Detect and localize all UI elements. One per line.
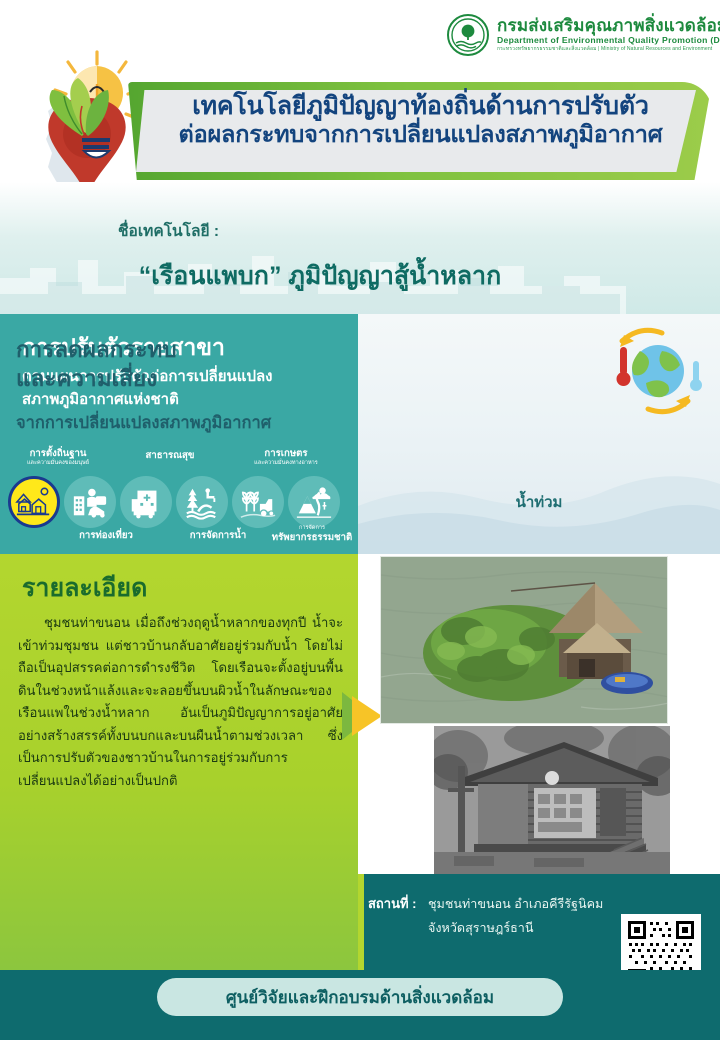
footer-pill: ศูนย์วิจัยและฝึกอบรมด้านสิ่งแวดล้อม — [157, 978, 563, 1016]
mitigation-heading-line1: การลดผลกระทบ — [16, 337, 177, 362]
technology-label: ชื่อเทคโนโลยี : — [118, 218, 219, 243]
deqp-org-th: กรมส่งเสริมคุณภาพสิ่งแวดล้อม — [497, 17, 720, 35]
sector-bottom-labels: การท่องเที่ยว การจัดการน้ำ การจัดการ ทรั… — [0, 530, 358, 556]
location-line1: ชุมชนท่าขนอน อำเภอคีรีรัฐนิคม — [428, 894, 603, 914]
sector-label-natural-resources: การจัดการ ทรัพยากรธรรมชาติ — [266, 524, 358, 543]
deqp-ministry: กระทรวงทรัพยากรธรรมชาติและสิ่งแวดล้อม | … — [497, 47, 720, 52]
title-ribbon: เทคโนโลยีภูมิปัญญาท้องถิ่นด้านการปรับตัว… — [128, 82, 712, 180]
location-line2: จังหวัดสุราษฎร์ธานี — [428, 918, 534, 938]
deqp-logo: กรมส่งเสริมคุณภาพสิ่งแวดล้อม Department … — [447, 14, 720, 56]
wooden-house-photo — [434, 726, 670, 874]
sector-icons-block: การตั้งถิ่นฐาน และความมั่นคงของมนุษย์ สา… — [0, 448, 358, 554]
poster-title: เทคโนโลยีภูมิปัญญาท้องถิ่นด้านการปรับตัว… — [148, 92, 693, 147]
poster-title-line1: เทคโนโลยีภูมิปัญญาท้องถิ่นด้านการปรับตัว — [148, 92, 693, 121]
sector-label-settlement: การตั้งถิ่นฐาน และความมั่นคงของมนุษย์ — [0, 448, 116, 467]
hot-thermometer-icon — [617, 347, 631, 386]
sector-icon-settlement[interactable] — [8, 476, 60, 528]
details-body: ชุมชนท่าขนอน เมื่อถึงช่วงฤดูน้ำหลากของทุ… — [18, 612, 343, 792]
globe-thermometer-icon — [600, 325, 710, 420]
location-label: สถานที่ : — [368, 893, 417, 914]
deqp-seal-icon — [447, 14, 489, 56]
sector-top-labels: การตั้งถิ่นฐาน และความมั่นคงของมนุษย์ สา… — [0, 448, 358, 478]
deqp-org-en: Department of Environmental Quality Prom… — [497, 36, 720, 45]
poster-header: กรมส่งเสริมคุณภาพสิ่งแวดล้อม Department … — [0, 0, 720, 182]
poster-root: กรมส่งเสริมคุณภาพสิ่งแวดล้อม Department … — [0, 0, 720, 1040]
sector-icon-water[interactable] — [176, 476, 228, 528]
cold-thermometer-icon — [690, 361, 702, 391]
mitigation-hazard-label: น้ำท่วม — [358, 490, 720, 514]
mitigation-heading-line2: และความเสี่ยง — [16, 366, 157, 391]
sector-icon-natural-resources[interactable] — [288, 476, 340, 528]
sector-label-water: การจัดการน้ำ — [168, 530, 268, 541]
mitigation-heading: การลดผลกระทบ และความเสี่ยง — [16, 336, 246, 394]
sector-label-health: สาธารณสุข — [120, 450, 220, 461]
technology-name: “เรือนแพบก” ภูมิปัญญาสู้น้ำหลาก — [0, 256, 640, 296]
sector-icon-row — [8, 476, 340, 528]
location-accent-bar — [358, 874, 364, 970]
sector-label-agriculture: การเกษตร และความมั่นคงทางอาหาร — [226, 448, 346, 467]
details-heading: รายละเอียด — [22, 568, 147, 608]
poster-title-line2: ต่อผลกระทบจากการเปลี่ยนแปลงสภาพภูมิอากาศ — [148, 121, 693, 148]
sector-icon-health[interactable] — [120, 476, 172, 528]
floating-house-photo — [380, 556, 668, 724]
sector-label-tourism: การท่องเที่ยว — [56, 530, 156, 541]
footer-text: ศูนย์วิจัยและฝึกอบรมด้านสิ่งแวดล้อม — [226, 984, 494, 1011]
sector-icon-agriculture[interactable] — [232, 476, 284, 528]
mitigation-subheading: จากการเปลี่ยนแปลงสภาพภูมิอากาศ — [16, 410, 271, 436]
sector-icon-tourism[interactable] — [64, 476, 116, 528]
